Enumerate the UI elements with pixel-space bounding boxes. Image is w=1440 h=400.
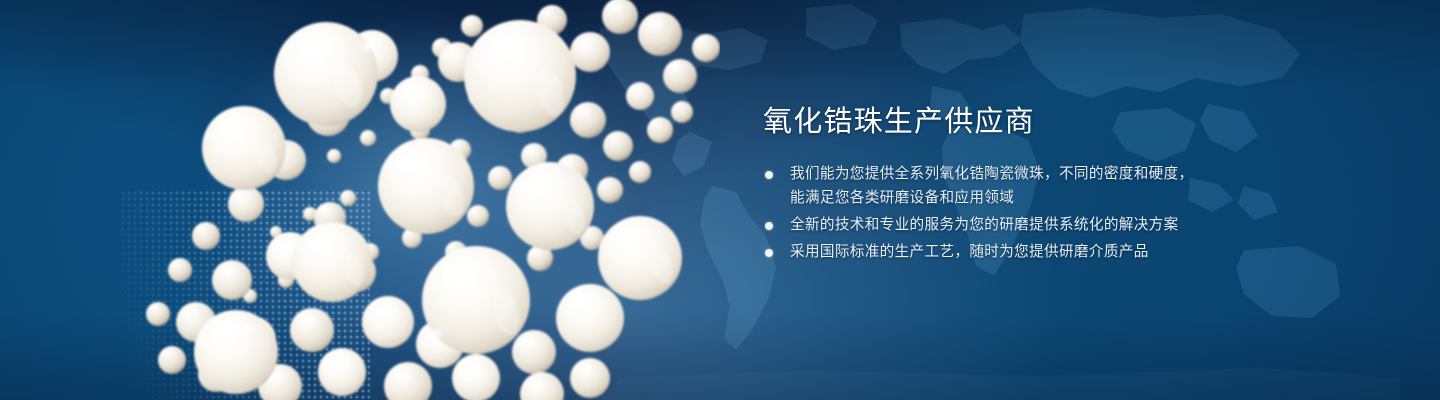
bullet-line: 采用国际标准的生产工艺，随时为您提供研磨介质产品 [790,241,1233,265]
bullet-line: 我们能为您提供全系列氧化锆陶瓷微珠，不同的密度和硬度， [790,163,1233,187]
promo-banner: 氧化锆珠生产供应商 我们能为您提供全系列氧化锆陶瓷微珠，不同的密度和硬度， 能满… [0,0,1440,400]
list-item: 全新的技术和专业的服务为您的研磨提供系统化的解决方案 [763,214,1233,238]
zirconia-beads-image [120,0,720,400]
banner-headline: 氧化锆珠生产供应商 [763,104,1233,140]
bullet-dot-icon [765,249,773,257]
banner-bullet-list: 我们能为您提供全系列氧化锆陶瓷微珠，不同的密度和硬度， 能满足您各类研磨设备和应… [763,163,1233,264]
bullet-dot-icon [765,222,773,230]
bullet-line: 全新的技术和专业的服务为您的研磨提供系统化的解决方案 [790,214,1233,238]
bullet-dot-icon [765,171,773,179]
bullet-line: 能满足您各类研磨设备和应用领域 [790,187,1233,211]
banner-copy: 氧化锆珠生产供应商 我们能为您提供全系列氧化锆陶瓷微珠，不同的密度和硬度， 能满… [763,104,1233,268]
list-item: 我们能为您提供全系列氧化锆陶瓷微珠，不同的密度和硬度， 能满足您各类研磨设备和应… [763,163,1233,210]
list-item: 采用国际标准的生产工艺，随时为您提供研磨介质产品 [763,241,1233,265]
